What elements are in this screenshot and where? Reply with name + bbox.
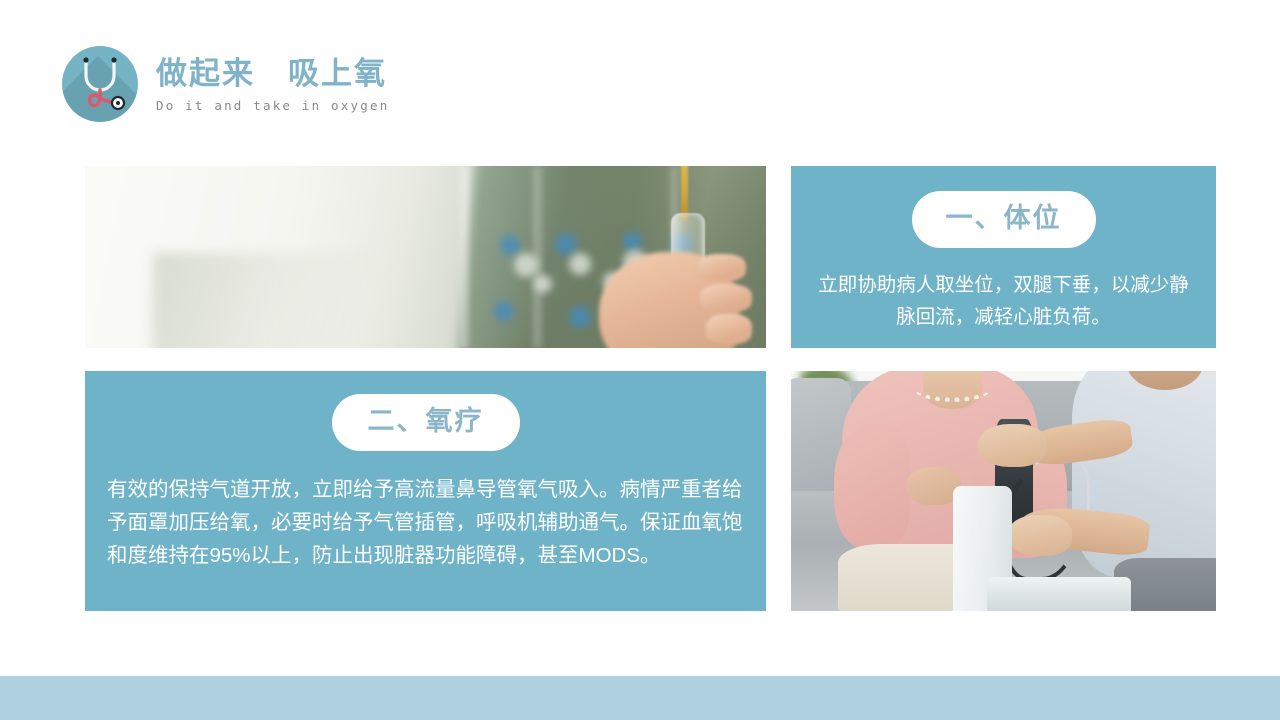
- slide-root: 做起来 吸上氧 Do it and take in oxygen: [0, 0, 1280, 720]
- section-body-position: 立即协助病人取坐位，双腿下垂，以减少静脉回流，减轻心脏负荷。: [803, 270, 1204, 333]
- bokeh-dot: [569, 306, 591, 328]
- image-card-blood-pressure: [791, 371, 1216, 611]
- lab-photo: [85, 166, 766, 348]
- slide-header: 做起来 吸上氧 Do it and take in oxygen: [62, 46, 389, 122]
- blood-pressure-photo: [791, 371, 1216, 611]
- content-grid: 一、体位 立即协助病人取坐位，双腿下垂，以减少静脉回流，减轻心脏负荷。 二、氧疗…: [85, 166, 1216, 611]
- section-paragraph: 立即协助病人取坐位，双腿下垂，以减少静脉回流，减轻心脏负荷。: [809, 270, 1198, 333]
- header-title-block: 做起来 吸上氧 Do it and take in oxygen: [156, 55, 389, 113]
- finger-shape: [706, 314, 752, 344]
- patient-left-arm-shape: [834, 424, 911, 549]
- bokeh-dot: [494, 301, 514, 321]
- stethoscope-icon: [62, 46, 138, 122]
- page-subtitle: Do it and take in oxygen: [156, 100, 389, 113]
- section-card-oxygen-therapy: 二、氧疗 有效的保持气道开放，立即给予高流量鼻导管氧气吸入。病情严重者给予面罩加…: [85, 371, 766, 611]
- section-card-position: 一、体位 立即协助病人取坐位，双腿下垂，以减少静脉回流，减轻心脏负荷。: [791, 166, 1216, 348]
- caregiver-lower-hand-shape: [1008, 515, 1072, 556]
- section-pill-position: 一、体位: [912, 191, 1096, 248]
- section-body-oxygen-therapy: 有效的保持气道开放，立即给予高流量鼻导管氧气吸入。病情严重者给予面罩加压给氧，必…: [97, 473, 754, 573]
- finger-shape: [700, 284, 752, 312]
- page-title: 做起来 吸上氧: [156, 57, 389, 91]
- image-card-lab: [85, 166, 766, 348]
- bokeh-dot: [623, 232, 642, 251]
- bp-monitor-tray-shape: [987, 577, 1132, 611]
- footer-bar: [0, 676, 1280, 720]
- bokeh-dot: [569, 253, 591, 275]
- section-paragraph: 有效的保持气道开放，立即给予高流量鼻导管氧气吸入。病情严重者给予面罩加压给氧，必…: [107, 473, 744, 573]
- logo-badge: [62, 46, 138, 122]
- finger-shape: [698, 254, 746, 281]
- section-pill-oxygen-therapy: 二、氧疗: [332, 394, 520, 451]
- lab-coat-fold-shape: [153, 253, 439, 348]
- caregiver-upper-hand-shape: [978, 424, 1046, 467]
